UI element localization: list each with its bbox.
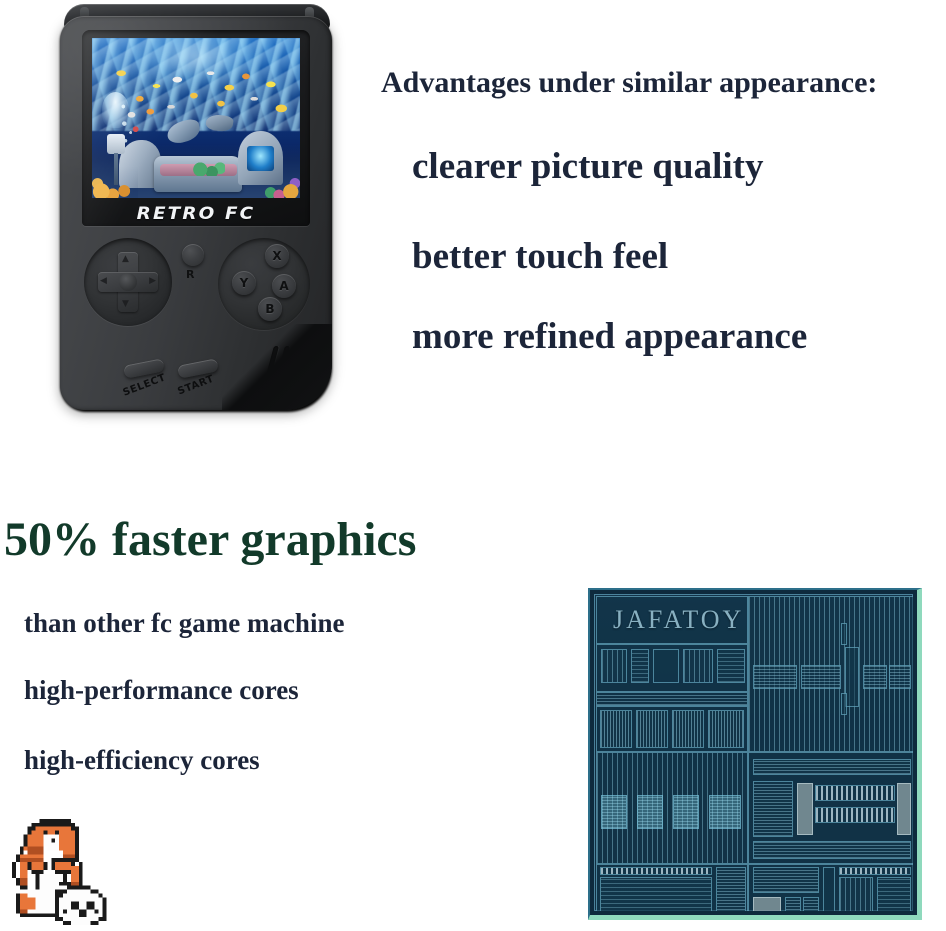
lcd-seaweed bbox=[192, 150, 225, 176]
directional-pad[interactable]: ▲ ▼ ◀ ▶ bbox=[98, 252, 158, 312]
dpad-down-icon[interactable]: ▼ bbox=[122, 300, 129, 309]
die-block-io-region bbox=[748, 596, 913, 752]
lcd-screen bbox=[92, 38, 300, 198]
die-bus-strip bbox=[596, 692, 748, 706]
speaker-grille bbox=[265, 346, 327, 406]
performance-heading: 50% faster graphics bbox=[4, 512, 416, 567]
button-y[interactable]: Y bbox=[232, 271, 256, 295]
face-button-recess: X Y A B bbox=[218, 238, 310, 330]
button-a[interactable]: A bbox=[272, 274, 296, 298]
die-block-core-array bbox=[596, 752, 748, 864]
dpad-center-hub bbox=[119, 273, 137, 291]
grille-slot bbox=[271, 346, 290, 398]
die-block-label-area: JAFATOY bbox=[596, 596, 748, 644]
processor-die-diagram: JAFATOY bbox=[588, 588, 922, 920]
performance-item-2: high-performance cores bbox=[24, 675, 299, 706]
r-button-label: R bbox=[186, 268, 194, 281]
screen-bezel: RETRO FC bbox=[82, 30, 310, 226]
die-interior: JAFATOY bbox=[594, 594, 913, 911]
die-block-memory-controller bbox=[748, 752, 913, 864]
grille-slot bbox=[304, 346, 323, 398]
dpad-recess: ▲ ▼ ◀ ▶ bbox=[84, 238, 172, 326]
dpad-left-icon[interactable]: ◀ bbox=[100, 277, 107, 286]
lcd-coral-left bbox=[92, 166, 138, 198]
die-block-pad-ring-right bbox=[748, 864, 913, 911]
button-x[interactable]: X bbox=[265, 244, 289, 268]
dpad-up-icon[interactable]: ▲ bbox=[122, 255, 129, 264]
button-b[interactable]: B bbox=[258, 297, 282, 321]
lcd-coral-right bbox=[258, 163, 300, 198]
advantage-item-2: better touch feel bbox=[412, 235, 668, 278]
advantage-item-1: clearer picture quality bbox=[412, 145, 763, 188]
performance-item-3: high-efficiency cores bbox=[24, 745, 260, 776]
grille-slot bbox=[293, 346, 312, 398]
r-button[interactable] bbox=[182, 244, 204, 266]
retro-fc-handheld-console: RETRO FC ▲ ▼ ◀ ▶ R X Y A B SELE bbox=[52, 2, 340, 417]
die-block-cache-row bbox=[596, 706, 748, 752]
console-body: RETRO FC ▲ ▼ ◀ ▶ R X Y A B SELE bbox=[60, 16, 332, 410]
advantage-item-3: more refined appearance bbox=[412, 315, 807, 358]
grille-slot bbox=[260, 346, 279, 398]
retro-pixel-boxer-sprite bbox=[8, 814, 126, 926]
pixel-boxer-svg bbox=[8, 814, 126, 926]
performance-item-1: than other fc game machine bbox=[24, 608, 344, 639]
die-brand-label: JAFATOY bbox=[613, 605, 744, 635]
die-block bbox=[596, 644, 748, 692]
advantages-heading: Advantages under similar appearance: bbox=[381, 66, 877, 100]
grille-slot bbox=[282, 346, 301, 398]
dpad-right-icon[interactable]: ▶ bbox=[149, 277, 156, 286]
console-brand-logo: RETRO FC bbox=[73, 204, 319, 224]
die-block-pad-ring-left bbox=[596, 864, 748, 911]
